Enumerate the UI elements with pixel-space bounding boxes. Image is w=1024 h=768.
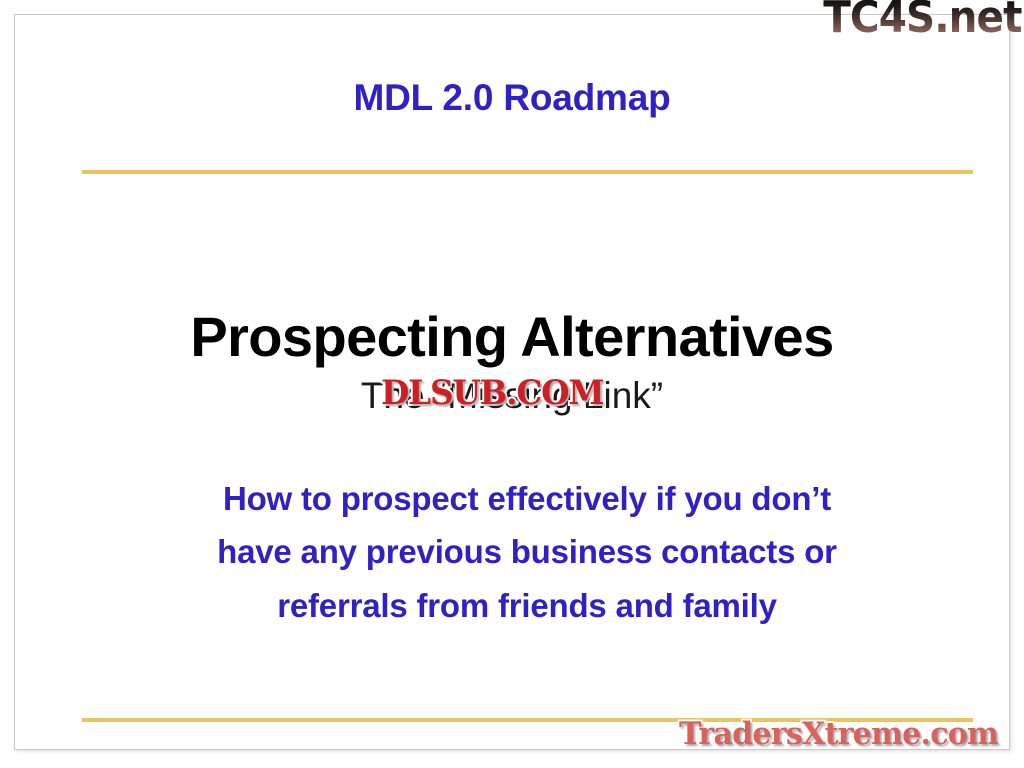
slide-frame: MDL 2.0 Roadmap Prospecting Alternatives… [14,14,1010,750]
page-title: MDL 2.0 Roadmap [15,77,1009,119]
body-line: How to prospect effectively if you don’t [127,472,927,525]
body-text: How to prospect effectively if you don’t… [127,472,927,632]
watermark-dlsub: DLSUB.COM [381,373,603,413]
divider-top [82,170,973,174]
body-line: referrals from friends and family [127,579,927,632]
headline: Prospecting Alternatives [15,308,1009,367]
watermark-tradersxtreme: TradersXtreme.com [679,716,998,752]
body-line: have any previous business contacts or [127,525,927,578]
watermark-tc4s: TC4S.net [824,0,1022,40]
